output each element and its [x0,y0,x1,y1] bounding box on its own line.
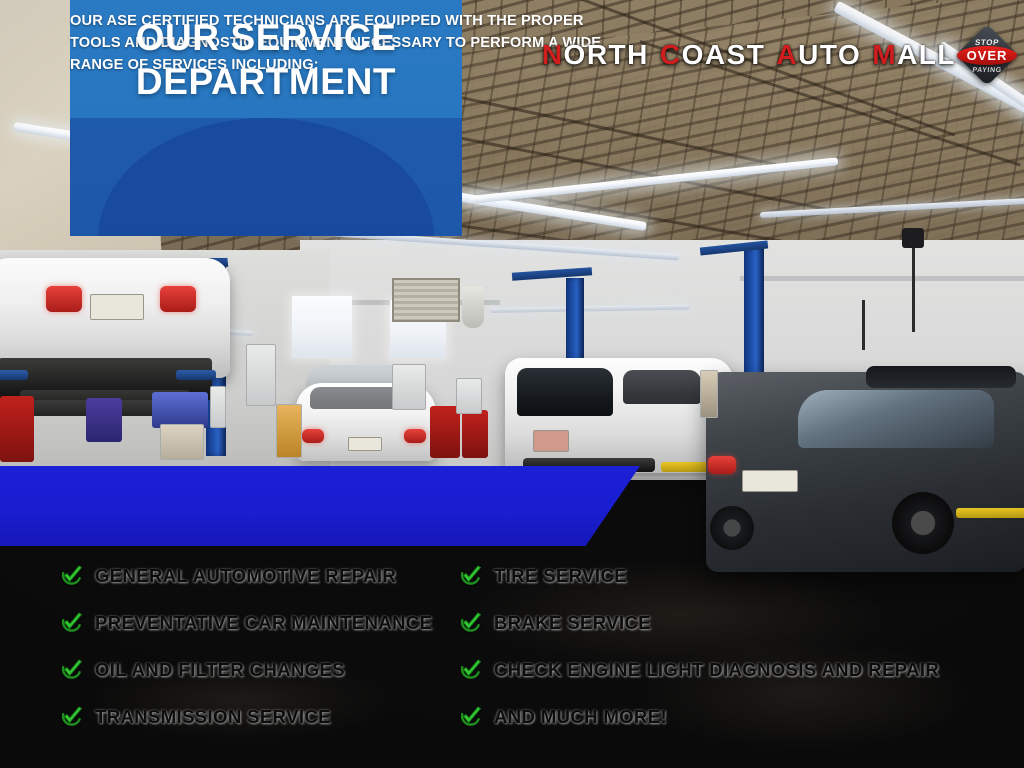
services-column-right: TIRE SERVICE BRAKE SERVICE [455,552,1024,752]
badge-text-over: OVER [958,48,1016,63]
check-icon [60,611,84,635]
brand-rest-orth: ORTH [564,39,649,70]
badge-text-paying: PAYING [958,67,1017,74]
check-icon [459,705,483,729]
list-item-label: OIL AND FILTER CHANGES [95,659,345,681]
list-item: OIL AND FILTER CHANGES [60,646,455,693]
list-item: BRAKE SERVICE [459,599,1024,646]
brand-rest-uto: UTO [798,39,861,70]
brand-logo[interactable]: NORTH COAST AUTO MALL STOP OVER PAYING [542,26,1016,84]
list-item-label: BRAKE SERVICE [494,612,651,634]
list-item-label: AND MUCH MORE! [494,706,667,728]
list-item: TIRE SERVICE [459,552,1024,599]
brand-cap-m: M [872,39,897,70]
page-title: OUR SERVICE DEPARTMENT [70,16,462,103]
check-icon [60,658,84,682]
list-item: CHECK ENGINE LIGHT DIAGNOSIS AND REPAIR [459,646,1024,693]
brand-word-coast: COAST [660,39,766,71]
brand-word-auto: AUTO [776,39,861,71]
check-icon [459,658,483,682]
statement-banner [0,466,640,546]
check-icon [459,564,483,588]
list-item: PREVENTATIVE CAR MAINTENANCE [60,599,455,646]
list-item-label: TRANSMISSION SERVICE [95,706,331,728]
brand-word-mall: MALL [872,39,956,71]
list-item-label: TIRE SERVICE [494,565,627,587]
brand-cap-c: C [660,39,682,70]
check-icon [60,564,84,588]
brand-rest-all: ALL [897,39,956,70]
list-item-label: CHECK ENGINE LIGHT DIAGNOSIS AND REPAIR [494,659,939,681]
brand-rest-oast: OAST [682,39,766,70]
services-column-left: GENERAL AUTOMOTIVE REPAIR PREVENTATIVE C… [0,552,455,752]
list-item: AND MUCH MORE! [459,693,1024,740]
list-item-label: PREVENTATIVE CAR MAINTENANCE [95,612,432,634]
brand-word-north: NORTH [542,39,649,71]
check-icon [459,611,483,635]
brand-cap-a: A [776,39,798,70]
brand-cap-n: N [542,39,564,70]
stop-over-paying-badge-icon[interactable]: STOP OVER PAYING [958,26,1016,84]
page-title-line-2: DEPARTMENT [92,60,440,104]
list-item: GENERAL AUTOMOTIVE REPAIR [60,552,455,599]
service-department-banner: OUR SERVICE DEPARTMENT NORTH COAST AUTO … [0,0,1024,768]
list-item: TRANSMISSION SERVICE [60,693,455,740]
services-checklist: GENERAL AUTOMOTIVE REPAIR PREVENTATIVE C… [0,552,1024,752]
page-title-line-1: OUR SERVICE [92,16,440,60]
check-icon [60,705,84,729]
list-item-label: GENERAL AUTOMOTIVE REPAIR [95,565,396,587]
